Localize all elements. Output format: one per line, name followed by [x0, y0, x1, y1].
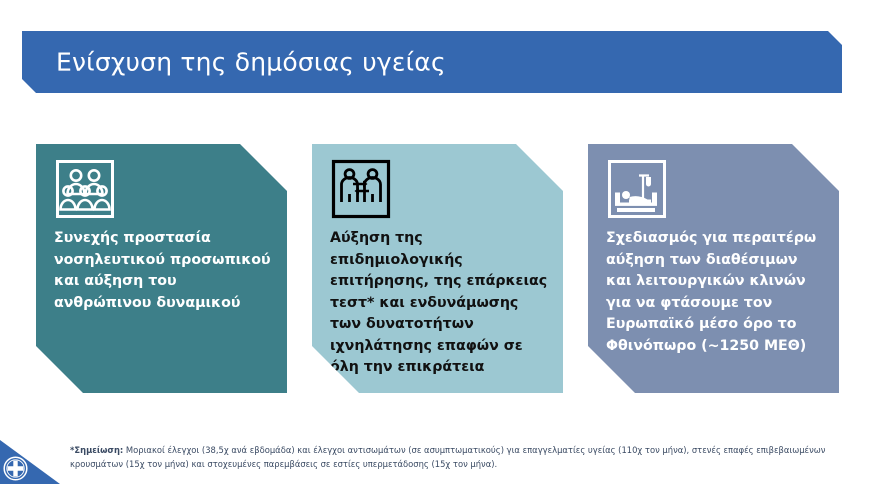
group-of-people-icon [54, 158, 116, 220]
contact-tracing-exchange-icon [330, 158, 392, 220]
card-icu-beds[interactable]: Σχεδιασμός για περαιτέρω αύξηση των διαθ… [588, 144, 839, 393]
card-text: Σχεδιασμός για περαιτέρω αύξηση των διαθ… [606, 228, 825, 357]
slide-title-bar: Ενίσχυση της δημόσιας υγείας [22, 31, 842, 93]
card-nursing-staff[interactable]: Συνεχής προστασία νοσηλευτικού προσωπικο… [36, 144, 287, 393]
card-epidemiological-surveillance[interactable]: Αύξηση της επιδημιολογικής επιτήρησης, τ… [312, 144, 563, 393]
card-body: Αύξηση της επιδημιολογικής επιτήρησης, τ… [330, 228, 549, 379]
card-body: Συνεχής προστασία νοσηλευτικού προσωπικο… [54, 228, 273, 314]
card-text: Αύξηση της επιδημιολογικής επιτήρησης, τ… [330, 228, 549, 379]
footnote-text: Μοριακοί έλεγχοι (38,5χ ανά εβδομάδα) κα… [70, 445, 825, 469]
footnote: *Σημείωση: Μοριακοί έλεγχοι (38,5χ ανά ε… [70, 444, 860, 471]
greek-cross-wreath-icon [2, 455, 29, 482]
hellenic-republic-emblem [0, 440, 60, 484]
page-title: Ενίσχυση της δημόσιας υγείας [56, 48, 446, 77]
card-text: Συνεχής προστασία νοσηλευτικού προσωπικο… [54, 228, 273, 314]
footnote-label: *Σημείωση: [70, 445, 123, 455]
hospital-bed-icon [606, 158, 668, 220]
slide-canvas: Ενίσχυση της δημόσιας υγείας [0, 0, 880, 484]
card-body: Σχεδιασμός για περαιτέρω αύξηση των διαθ… [606, 228, 825, 357]
